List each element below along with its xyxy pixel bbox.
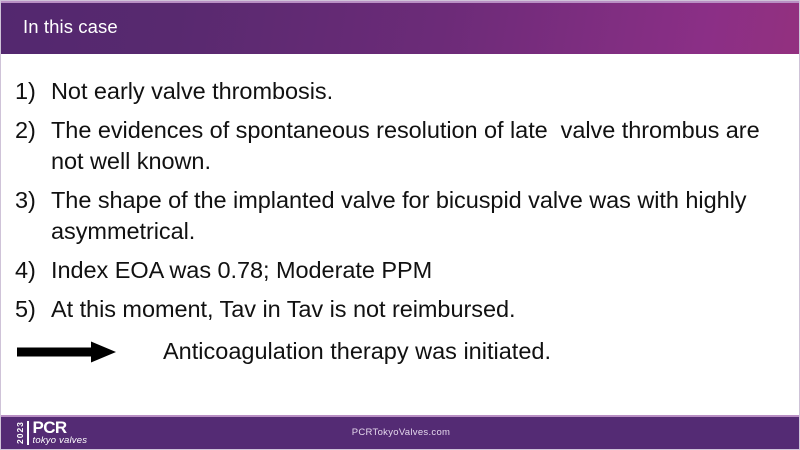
list-item-marker: 2) [15,115,51,146]
list-item-marker: 4) [15,255,51,286]
slide-content: 1) Not early valve thrombosis. 2) The ev… [1,54,800,417]
list-item-marker: 1) [15,76,51,107]
list-item: 5) At this moment, Tav in Tav is not rei… [15,294,787,325]
slide-footer: 2023 PCR tokyo valves PCRTokyoValves.com [1,415,800,449]
list-item-text: The evidences of spontaneous resolution … [51,115,787,177]
slide: In this case 1) Not early valve thrombos… [0,0,800,450]
list-item: 4) Index EOA was 0.78; Moderate PPM [15,255,787,286]
list-item-text: At this moment, Tav in Tav is not reimbu… [51,294,787,325]
page-title: In this case [23,16,118,38]
list-item-marker: 3) [15,185,51,216]
list-item: 3) The shape of the implanted valve for … [15,185,787,247]
list-item-text: The shape of the implanted valve for bic… [51,185,787,247]
list-item: 2) The evidences of spontaneous resoluti… [15,115,787,177]
numbered-bullet-list: 1) Not early valve thrombosis. 2) The ev… [15,76,787,325]
right-arrow-icon [17,341,117,363]
list-item-marker: 5) [15,294,51,325]
conclusion-row: Anticoagulation therapy was initiated. [15,333,787,369]
list-item: 1) Not early valve thrombosis. [15,76,787,107]
list-item-text: Not early valve thrombosis. [51,76,787,107]
footer-url: PCRTokyoValves.com [1,427,800,438]
slide-header: In this case [1,1,800,54]
conclusion-text: Anticoagulation therapy was initiated. [163,336,551,367]
list-item-text: Index EOA was 0.78; Moderate PPM [51,255,787,286]
